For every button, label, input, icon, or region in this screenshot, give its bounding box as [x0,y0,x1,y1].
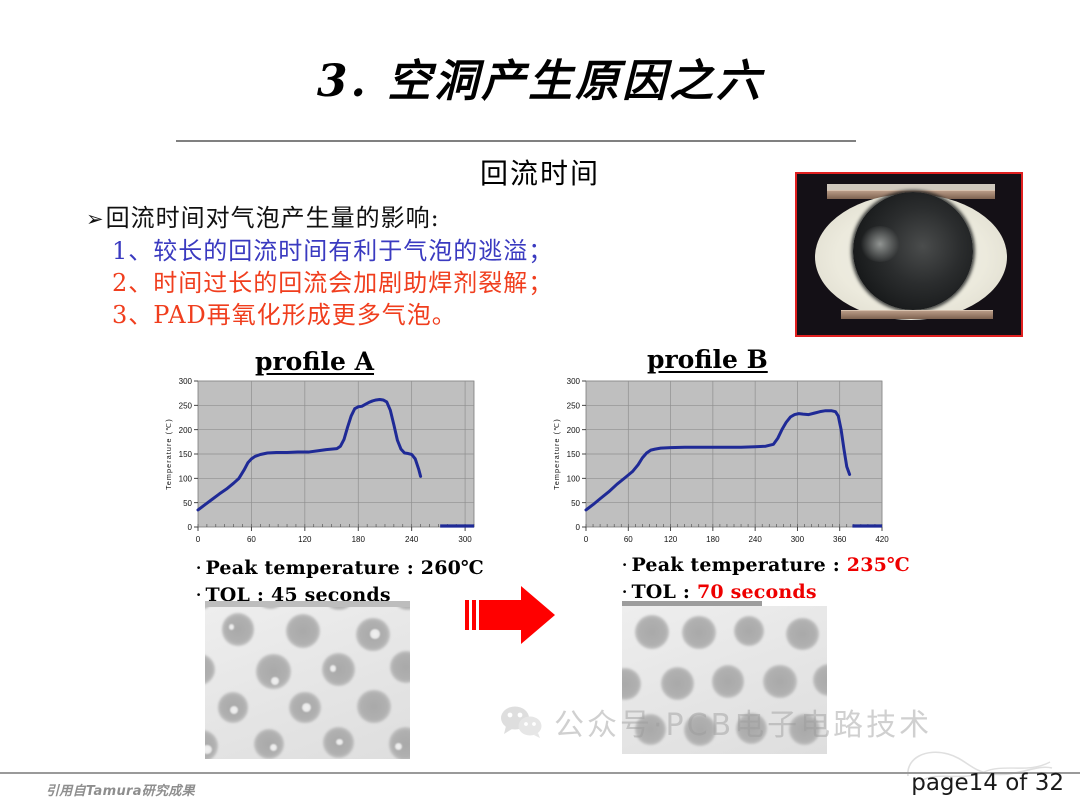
page-title: 3. 空洞产生原因之六 [0,56,1080,109]
solder-ball [635,714,666,745]
profile-b-tol-label: TOL : [631,581,697,603]
y-tick-label: 50 [571,499,580,508]
x-tick-label: 180 [352,535,366,544]
bullet-dot-icon: · [622,556,627,574]
x-tick-label: 240 [405,535,419,544]
cross-section-void-highlight [859,226,901,262]
profile-b-tol-value: 70 seconds [697,581,817,603]
bullet-item-2: 2、时间过长的回流会加剧助焊剂裂解； [112,267,686,299]
solder-ball [635,615,670,650]
y-tick-label: 250 [179,402,193,411]
solder-ball [789,714,820,745]
red-right-arrow-icon [463,578,558,650]
y-axis-label: Temperature (℃) [552,418,561,490]
page-number: page14 of 32 [911,770,1064,796]
title-divider [176,140,856,142]
bullet-dot-icon: · [622,583,627,601]
solder-ball [322,653,355,686]
profile-a-chart: 050100150200250300060120180240300Tempera… [162,373,482,553]
solder-ball [786,618,819,651]
void-spot [270,744,277,751]
void-spot [230,706,238,714]
y-tick-label: 200 [567,426,581,435]
profile-a-title: profile A [255,347,374,376]
solder-ball [222,613,254,645]
x-tick-label: 360 [833,535,847,544]
arrow-bullet-icon: ➢ [86,207,105,231]
profile-a-peak-label: Peak temperature : [205,557,420,579]
profile-a-svg: 050100150200250300060120180240300Tempera… [162,373,482,553]
solder-ball [682,616,715,649]
cross-section-inner [797,174,1021,335]
y-tick-label: 150 [567,450,581,459]
wechat-icon [500,705,544,739]
profile-b-peak-value: 235℃ [847,554,910,576]
profile-b-peak-line: ·Peak temperature : 235℃ [622,552,910,579]
bullet-item-3: 3、PAD再氧化形成更多气泡。 [112,299,686,331]
x-tick-label: 0 [584,535,589,544]
x-tick-label: 60 [247,535,256,544]
slide-canvas: 3. 空洞产生原因之六 回流时间 ➢回流时间对气泡产生量的影响: 1、较长的回流… [0,0,1080,810]
void-spot [395,743,402,750]
title-block: 3. 空洞产生原因之六 [0,56,1080,109]
bullet-lead-text: 回流时间对气泡产生量的影响: [106,204,440,232]
profile-a-peak-value: 260℃ [421,557,484,579]
solder-ball [712,665,745,698]
x-tick-label: 120 [298,535,312,544]
profile-b-svg: 050100150200250300060120180240300360420T… [550,373,890,553]
profile-b-title: profile B [647,345,768,374]
xray-voids-profile-b [622,606,827,754]
solder-ball [763,665,796,698]
void-spot [271,677,279,685]
profile-b-peak-label: Peak temperature : [631,554,846,576]
y-tick-label: 100 [179,475,193,484]
x-tick-label: 60 [624,535,633,544]
void-spot [302,703,311,712]
cross-section-bottom-pad [841,310,993,319]
x-tick-label: 180 [706,535,720,544]
y-tick-label: 300 [567,377,581,386]
bullet-dot-icon: · [196,559,201,577]
bullet-lead-line: ➢回流时间对气泡产生量的影响: [86,203,686,235]
solder-ball [684,714,716,746]
profile-b-caption: ·Peak temperature : 235℃ ·TOL : 70 secon… [622,552,910,606]
x-tick-label: 420 [875,535,889,544]
y-tick-label: 150 [179,450,193,459]
y-tick-label: 0 [576,523,581,532]
y-tick-label: 0 [188,523,193,532]
xray-voids-profile-a [205,607,410,759]
y-tick-label: 200 [179,426,193,435]
x-tick-label: 240 [748,535,762,544]
y-axis-label: Temperature (℃) [164,418,173,490]
y-tick-label: 300 [179,377,193,386]
solder-ball [357,690,390,723]
bullet-item-1: 1、较长的回流时间有利于气泡的逃溢； [112,235,686,267]
solder-ball [661,667,694,700]
profile-b-chart: 050100150200250300060120180240300360420T… [550,373,890,553]
bullet-dot-icon: · [196,586,201,604]
x-tick-label: 0 [196,535,201,544]
solder-ball [254,729,284,759]
x-tick-label: 120 [664,535,678,544]
void-spot [229,624,235,630]
x-tick-label: 300 [458,535,472,544]
void-spot [370,629,379,638]
y-tick-label: 50 [183,499,192,508]
footer-source-note: 引用自Tamura研究成果 [46,780,195,799]
profile-a-peak-line: ·Peak temperature : 260℃ [196,555,484,582]
bullet-list: ➢回流时间对气泡产生量的影响: 1、较长的回流时间有利于气泡的逃溢； 2、时间过… [86,203,686,331]
y-tick-label: 100 [567,475,581,484]
y-tick-label: 250 [567,402,581,411]
x-tick-label: 300 [791,535,805,544]
solder-joint-cross-section-photo [795,172,1023,337]
